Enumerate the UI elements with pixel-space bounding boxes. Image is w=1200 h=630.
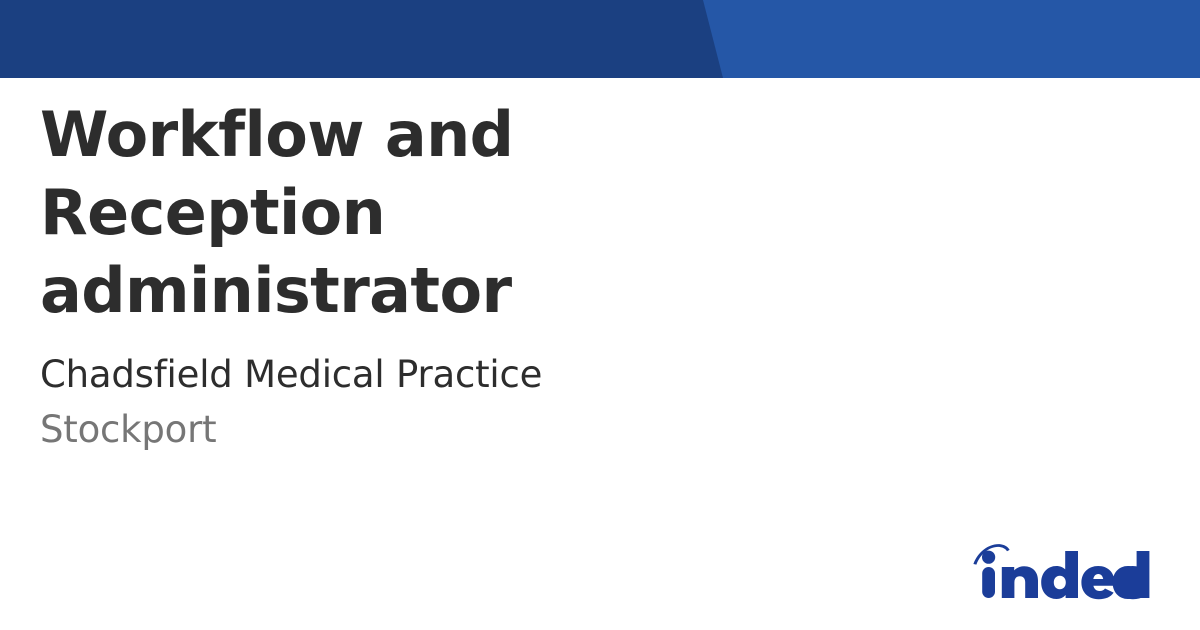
banner-left-panel [0,0,723,78]
indeed-letter-i [982,567,995,598]
banner-shape [0,0,1200,78]
job-location: Stockport [40,398,1040,453]
job-summary: Workflow and Reception administrator Cha… [40,96,1040,453]
indeed-letter-e-1 [1081,566,1114,599]
job-posting-card: Workflow and Reception administrator Cha… [0,0,1200,630]
indeed-letter-d-1 [1041,551,1078,599]
header-banner [0,0,1200,78]
indeed-i-dot-icon [982,551,995,564]
company-name: Chadsfield Medical Practice [40,330,1040,398]
page-title: Workflow and Reception administrator [40,96,840,330]
indeed-letter-n [1002,566,1038,598]
indeed-letter-d-2 [1113,551,1150,599]
indeed-wordmark-icon [970,542,1160,600]
indeed-logo[interactable] [970,542,1160,600]
